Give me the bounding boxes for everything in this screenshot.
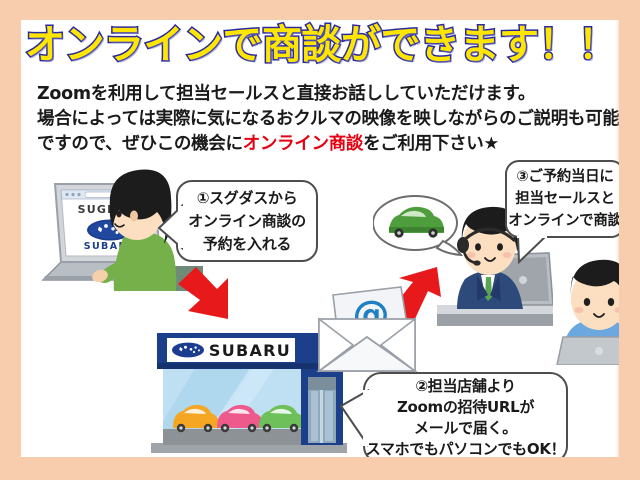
- callout-step-2: ②担当店舗より Zoomの招待URLが メールで届く。 スマホでもパソコンでもO…: [363, 372, 568, 457]
- callout-step-1-line-2: オンライン商談の: [178, 210, 316, 233]
- bubble-tail-1: [158, 204, 182, 250]
- callout-step-2-line-4: スマホでもパソコンでもOK！: [365, 439, 566, 457]
- body-line-3-accent: オンライン商談: [243, 134, 363, 154]
- body-line-3-prefix: ですので、ぜひこの機会に: [37, 134, 243, 154]
- illustration-customer-laptop: [551, 255, 619, 365]
- bubble-tail-3: [515, 236, 549, 264]
- body-line-3-suffix: をご利用下さい★: [363, 134, 499, 154]
- callout-step-2-line-3: メールで届く。: [365, 418, 566, 439]
- callout-step-1: ①スグダスから オンライン商談の 予約を入れる: [176, 180, 318, 262]
- poster-canvas: オンラインで商談ができます！！ Zoomを利用して担当セールスと直接お話ししてい…: [21, 20, 619, 457]
- dealership-sign-label: SUBARU: [209, 341, 291, 360]
- callout-step-1-line-1: ①スグダスから: [178, 187, 316, 210]
- page-title: オンラインで商談ができます！！: [25, 20, 615, 70]
- callout-step-2-line-1: ②担当店舗より: [365, 376, 566, 397]
- illustration-email-envelope: @: [313, 285, 421, 375]
- bubble-tail-2: [339, 388, 369, 448]
- illustration-stage: SUGDAS SUBARU: [21, 160, 619, 457]
- callout-step-1-line-3: 予約を入れる: [178, 233, 316, 256]
- callout-step-3: ③ご予約当日に 担当セールスと オンラインで商談: [505, 160, 619, 238]
- callout-step-3-line-1: ③ご予約当日に: [507, 166, 619, 188]
- body-line-1: Zoomを利用して担当セールスと直接お話ししていただけます。: [37, 82, 617, 107]
- callout-step-3-line-2: 担当セールスと: [507, 188, 619, 210]
- body-copy: Zoomを利用して担当セールスと直接お話ししていただけます。 場合によっては実際…: [37, 82, 617, 157]
- poster-root: オンラインで商談ができます！！ Zoomを利用して担当セールスと直接お話ししてい…: [0, 0, 640, 480]
- body-line-3: ですので、ぜひこの機会にオンライン商談をご利用下さい★: [37, 132, 617, 157]
- callout-step-3-line-3: オンラインで商談: [507, 210, 619, 232]
- arrow-down-icon: [176, 265, 240, 327]
- body-line-2: 場合によっては実際に気になるおクルマの映像を映しながらのご説明も可能: [37, 107, 617, 132]
- callout-step-2-line-2: Zoomの招待URLが: [365, 397, 566, 418]
